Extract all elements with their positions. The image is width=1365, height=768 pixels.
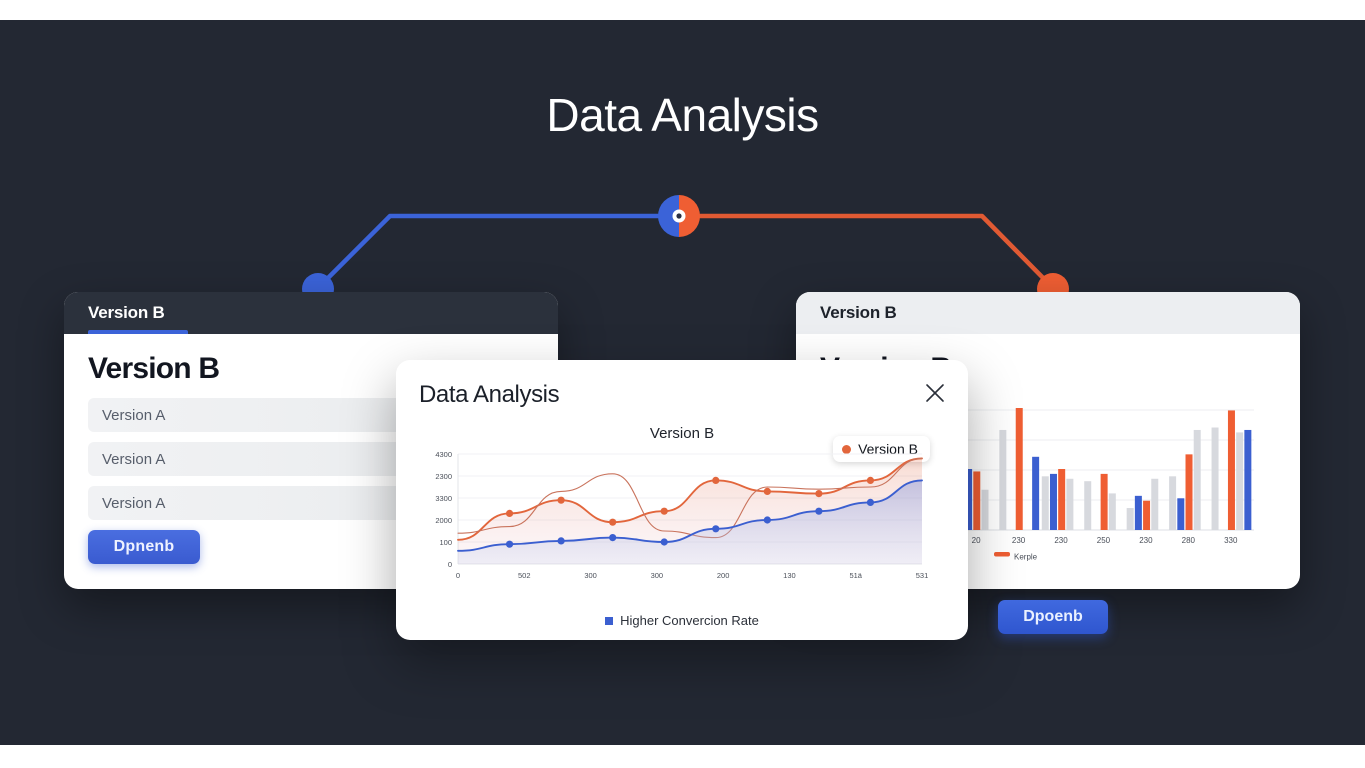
data-point[interactable] bbox=[506, 541, 513, 548]
right-card-header-title: Version B bbox=[820, 303, 897, 323]
x-tick-label: 330 bbox=[1224, 536, 1238, 545]
bar bbox=[1066, 479, 1073, 530]
bar bbox=[1135, 496, 1142, 530]
svg-text:Kerple: Kerple bbox=[1014, 553, 1038, 562]
bar bbox=[973, 471, 980, 530]
x-tick-label: 300 bbox=[651, 571, 664, 580]
data-point[interactable] bbox=[712, 525, 719, 532]
x-tick-label: 280 bbox=[1182, 536, 1196, 545]
list-item-label: Version A bbox=[102, 495, 165, 512]
data-point[interactable] bbox=[558, 537, 565, 544]
data-point[interactable] bbox=[558, 497, 565, 504]
left-card-header: Version B bbox=[64, 292, 558, 334]
y-tick-label: 2300 bbox=[435, 472, 452, 481]
bar bbox=[1169, 476, 1176, 530]
bar bbox=[1016, 408, 1023, 530]
x-tick-label: 230 bbox=[1139, 536, 1153, 545]
bar bbox=[1194, 430, 1201, 530]
bar bbox=[1050, 474, 1057, 530]
x-tick-label: 502 bbox=[518, 571, 531, 580]
bar bbox=[1177, 498, 1184, 530]
x-tick-label: 130 bbox=[783, 571, 796, 580]
close-icon[interactable] bbox=[921, 379, 949, 407]
modal-line-chart: 43002300330020001000 050230030020013051ä… bbox=[410, 442, 940, 592]
data-point[interactable] bbox=[661, 538, 668, 545]
bar bbox=[1236, 432, 1243, 530]
data-point[interactable] bbox=[815, 508, 822, 515]
bar bbox=[981, 490, 988, 530]
bar bbox=[1127, 508, 1134, 530]
chart-legend-conversion[interactable]: Higher Convercion Rate bbox=[396, 613, 968, 628]
x-tick-label: 300 bbox=[584, 571, 597, 580]
chart-legend-conversion-label: Higher Convercion Rate bbox=[620, 613, 759, 628]
x-tick-label: 200 bbox=[717, 571, 730, 580]
data-analysis-modal: Data Analysis Version B Version B bbox=[396, 360, 968, 640]
bar bbox=[1186, 454, 1193, 530]
connector-line-left bbox=[318, 216, 660, 288]
data-point[interactable] bbox=[764, 488, 771, 495]
bar bbox=[1084, 481, 1091, 530]
data-point[interactable] bbox=[609, 519, 616, 526]
data-point[interactable] bbox=[867, 477, 874, 484]
data-point[interactable] bbox=[764, 516, 771, 523]
bar bbox=[999, 430, 1006, 530]
modal-primary-button[interactable]: Dpoenb bbox=[998, 600, 1108, 634]
data-point[interactable] bbox=[867, 499, 874, 506]
right-chart-legend: Kerple bbox=[994, 552, 1038, 562]
bar bbox=[1032, 457, 1039, 530]
connector-graph bbox=[0, 40, 1365, 320]
data-point[interactable] bbox=[815, 490, 822, 497]
bar bbox=[1244, 430, 1251, 530]
data-point[interactable] bbox=[609, 534, 616, 541]
x-tick-label: 230 bbox=[1054, 536, 1068, 545]
right-card-header: Version B bbox=[796, 292, 1300, 334]
modal-button-wrap: Dpoenb bbox=[998, 600, 1108, 634]
x-tick-label: 531 bbox=[916, 571, 929, 580]
connector-line-right bbox=[700, 216, 1053, 288]
legend-square-icon bbox=[605, 617, 613, 625]
bar bbox=[1228, 410, 1235, 530]
y-tick-label: 100 bbox=[439, 538, 452, 547]
left-card-header-title: Version B bbox=[88, 303, 165, 323]
modal-title: Data Analysis bbox=[419, 381, 559, 409]
bar bbox=[1101, 474, 1108, 530]
list-item-label: Version A bbox=[102, 451, 165, 468]
bar bbox=[1212, 428, 1219, 530]
x-tick-label: 20 bbox=[972, 536, 981, 545]
split-node-icon[interactable] bbox=[658, 195, 700, 237]
x-tick-label: 0 bbox=[456, 571, 460, 580]
y-tick-label: 4300 bbox=[435, 450, 452, 459]
list-item-label: Version A bbox=[102, 407, 165, 424]
x-tick-label: 250 bbox=[1097, 536, 1111, 545]
data-point[interactable] bbox=[712, 477, 719, 484]
y-tick-label: 3300 bbox=[435, 494, 452, 503]
left-card-primary-button[interactable]: Dpnenb bbox=[88, 530, 200, 564]
data-point[interactable] bbox=[661, 508, 668, 515]
bar bbox=[1143, 501, 1150, 530]
x-tick-label: 51ä bbox=[849, 571, 862, 580]
bar bbox=[1058, 469, 1065, 530]
y-tick-label: 2000 bbox=[435, 516, 452, 525]
bar bbox=[1109, 493, 1116, 530]
data-point[interactable] bbox=[506, 510, 513, 517]
x-tick-label: 230 bbox=[1012, 536, 1026, 545]
bar bbox=[1151, 479, 1158, 530]
bar bbox=[1042, 476, 1049, 530]
app-canvas: Data Analysis Version B Version B Versio… bbox=[0, 20, 1365, 745]
y-tick-label: 0 bbox=[448, 560, 452, 569]
